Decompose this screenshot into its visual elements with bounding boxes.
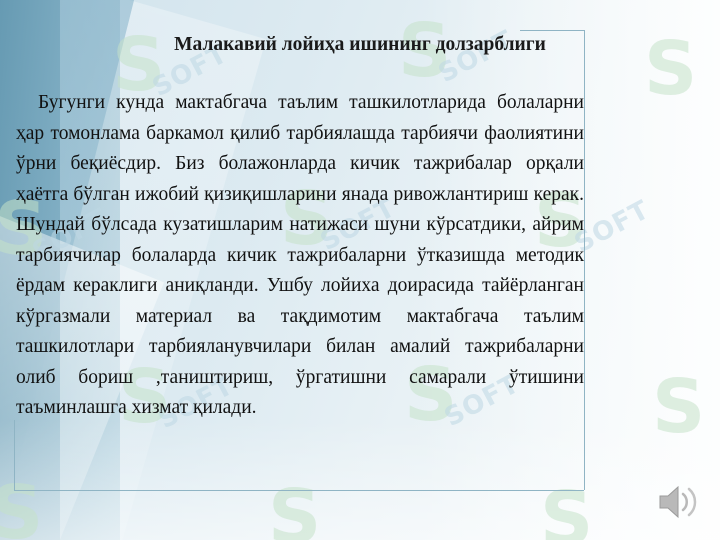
speaker-icon[interactable] xyxy=(656,482,702,522)
frame-line-horizontal-top xyxy=(520,30,584,31)
frame-line-vertical-left xyxy=(14,420,15,490)
slide-title: Малакавий лойиҳа ишининг долзарблиги xyxy=(0,34,720,56)
slide-body-text: Бугунги кунда мактабгача таълим ташкилот… xyxy=(16,88,584,424)
slide: S SOFT S SOFT S S SOFT S SOFT S SOFT S S… xyxy=(0,0,720,540)
frame-line-horizontal-bottom xyxy=(14,490,584,491)
frame-line-vertical-right xyxy=(584,30,585,490)
background-bottom-fade xyxy=(0,420,720,540)
